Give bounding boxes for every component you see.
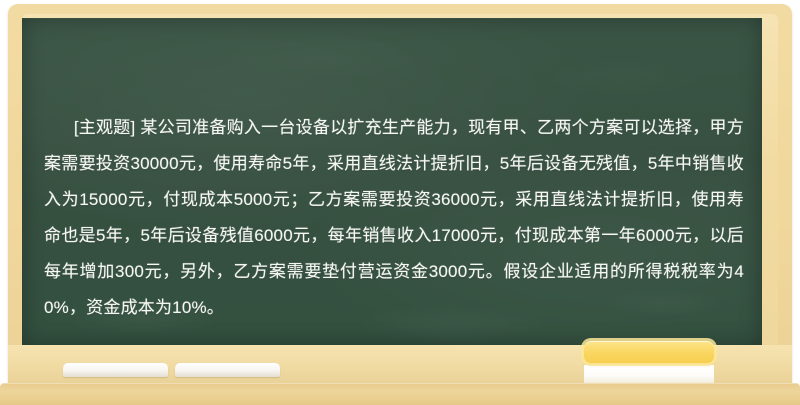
button-backing-sheet: [584, 365, 714, 383]
chalkboard-surface: [主观题] 某公司准备购入一台设备以扩充生产能力，现有甲、乙两个方案可以选择，甲…: [22, 18, 762, 345]
question-body: [主观题] 某公司准备购入一台设备以扩充生产能力，现有甲、乙两个方案可以选择，甲…: [44, 118, 744, 317]
chalk-ledge-lip: [0, 383, 800, 405]
chalkboard-scene: [主观题] 某公司准备购入一台设备以扩充生产能力，现有甲、乙两个方案可以选择，甲…: [0, 0, 800, 405]
action-button[interactable]: [584, 341, 714, 363]
chalk-stick-2[interactable]: [175, 363, 280, 377]
chalk-stick-1[interactable]: [63, 363, 168, 377]
question-text: [主观题] 某公司准备购入一台设备以扩充生产能力，现有甲、乙两个方案可以选择，甲…: [44, 74, 744, 345]
